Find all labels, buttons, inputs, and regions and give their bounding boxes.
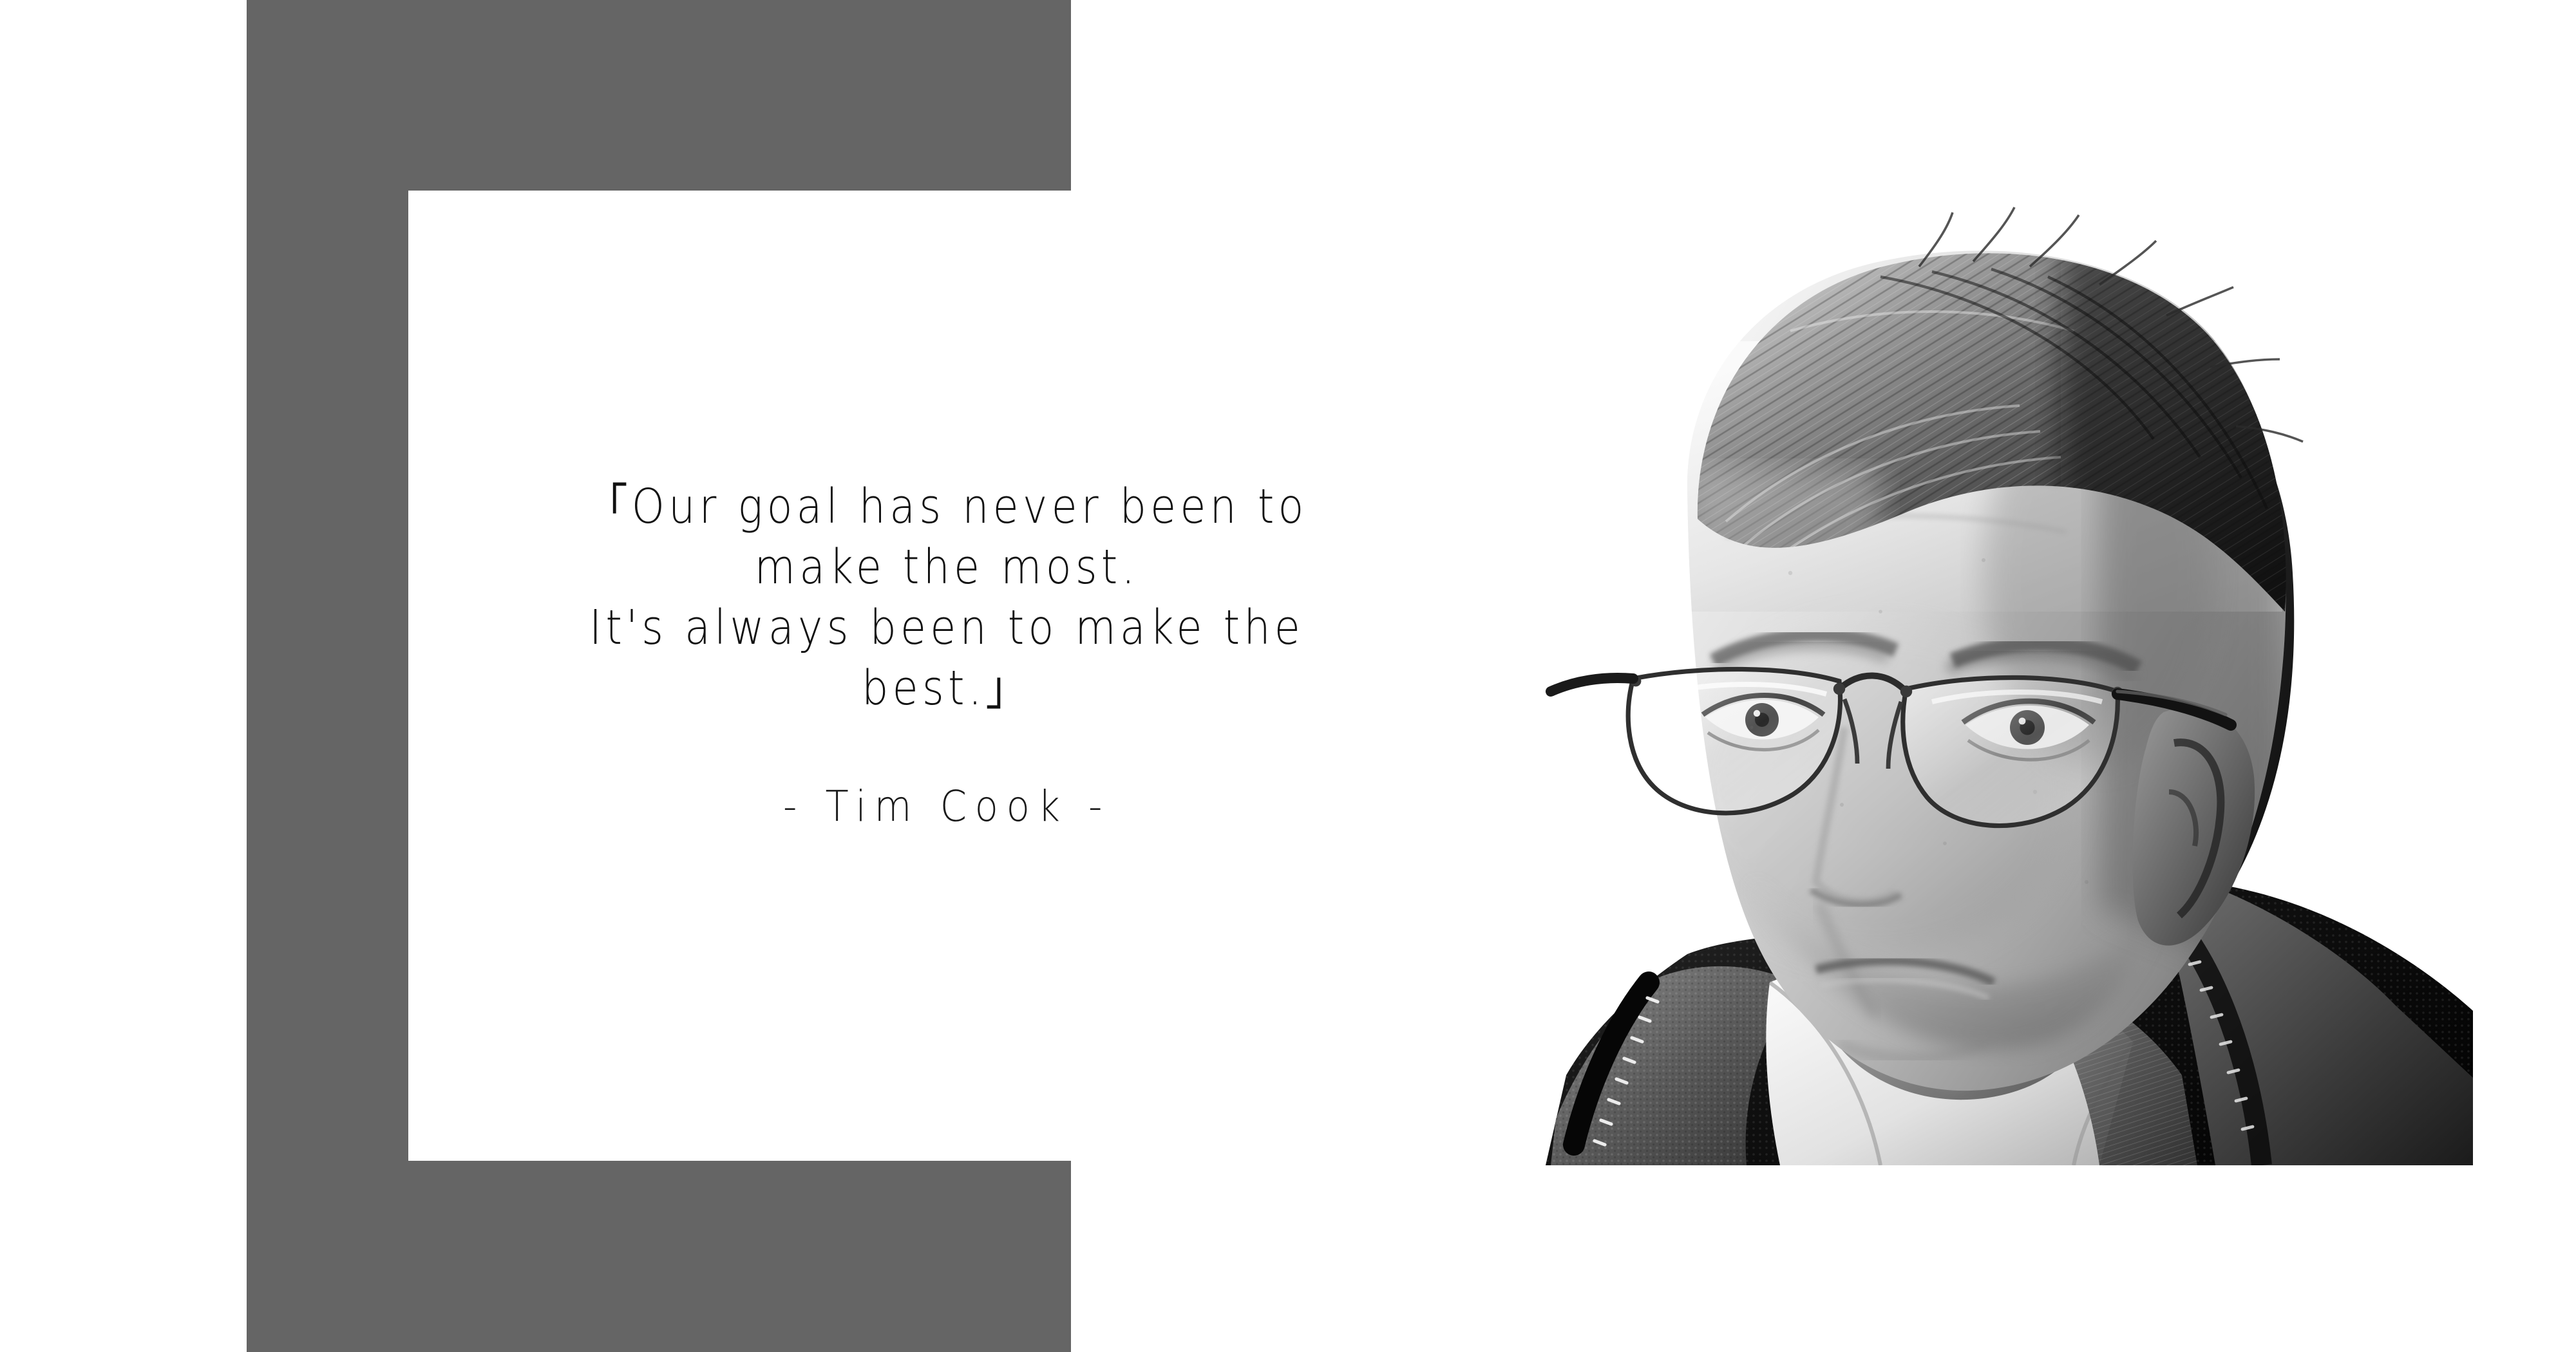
quote-slide: 「Our goal has never been to make the mos… <box>0 0 2576 1352</box>
portrait-image <box>1494 187 2499 1165</box>
quote-attribution: - Tim Cook - <box>535 782 1358 831</box>
quote-text: 「Our goal has never been to make the mos… <box>544 476 1349 718</box>
frame-left-spine <box>247 0 408 1352</box>
frame-bottom-arm <box>408 1161 1071 1352</box>
quote-block: 「Our goal has never been to make the mos… <box>489 476 1404 831</box>
frame-top-arm <box>408 0 1071 191</box>
portrait-illustration <box>1494 187 2499 1165</box>
